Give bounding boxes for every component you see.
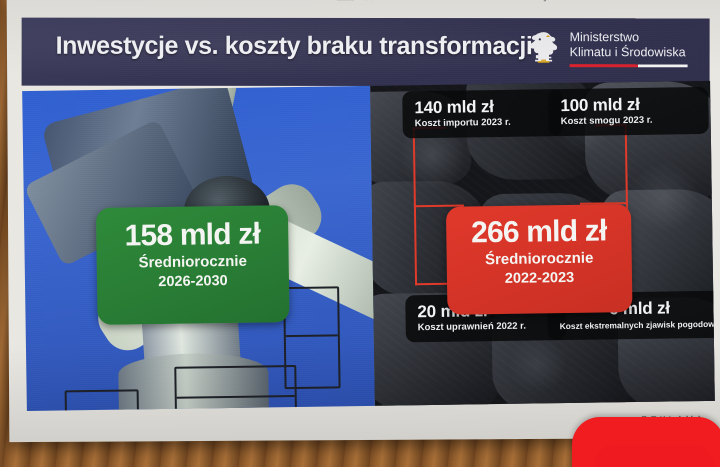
callout-amount: 100 mld zł [560, 94, 696, 116]
investment-amount: 158 mld zł [96, 217, 288, 254]
cost-amount: 266 mld zł [446, 214, 631, 251]
ministry-line-1: Ministerstwo [570, 30, 639, 44]
callout-label: Koszt smogu 2023 r. [561, 114, 697, 128]
ministry-logo: Ministerstwo Klimatu i Środowiska [527, 28, 688, 68]
cost-value-box: 266 mld zł Średniorocznie 2022-2023 [446, 204, 633, 315]
cost-frequency: Średniorocznie [447, 248, 632, 271]
callout-label: Koszt uprawnień 2022 r. [418, 320, 554, 334]
photograph-of-newspaper-page: mln 160 mld zł. W zestawieniu – nie i kl… [0, 0, 720, 467]
red-object-foreground-lower [594, 445, 714, 467]
ministry-logo-red-white-rule [570, 64, 688, 67]
callout-label: Koszt ekstremalnych zjawisk pogodowych [560, 318, 715, 332]
cost-years: 2022-2023 [447, 268, 632, 290]
polish-eagle-emblem-icon [527, 28, 561, 68]
callout-koszt-importu: 140 mld zł Koszt importu 2023 r. [402, 89, 563, 138]
investment-years: 2026-2030 [97, 271, 289, 293]
advertisement-block: Inwestycje vs. koszty braku transformacj… [11, 3, 717, 417]
page-title: Inwestycje vs. koszty braku transformacj… [56, 32, 533, 61]
callout-label: Koszt importu 2023 r. [415, 116, 551, 130]
ministry-line-2: Klimatu i Środowiska [570, 45, 686, 59]
callout-amount: 140 mld zł [414, 96, 550, 118]
newspaper-page-sheet: mln 160 mld zł. W zestawieniu – nie i kl… [7, 0, 720, 442]
investment-value-box: 158 mld zł Średniorocznie 2026-2030 [96, 205, 290, 325]
ministry-logo-text-block: Ministerstwo Klimatu i Środowiska [570, 30, 688, 67]
callout-koszt-smogu: 100 mld zł Koszt smogu 2023 r. [548, 87, 709, 136]
ministry-name: Ministerstwo Klimatu i Środowiska [570, 30, 688, 60]
advert-header-banner: Inwestycje vs. koszty braku transformacj… [22, 18, 710, 87]
